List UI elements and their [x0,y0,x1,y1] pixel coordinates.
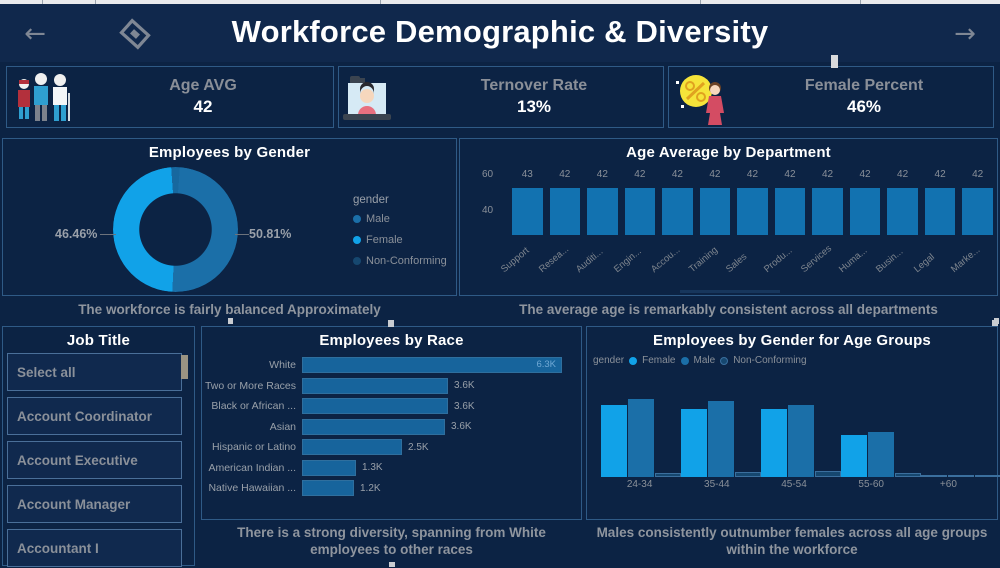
bar-female[interactable] [601,405,627,477]
panel-title: Employees by Race [202,327,581,349]
bar[interactable] [587,188,618,235]
dept-bar-group: 43Support 42Resea... 42Auditi... 42Engin… [512,163,993,273]
kpi-value: 46% [743,96,985,118]
bar-male[interactable] [948,475,974,477]
bar-value: 42 [700,169,731,180]
bar-female[interactable] [681,409,707,477]
race-bar-item[interactable]: American Indian ... 1.3K [202,458,583,479]
legend-item-non-conforming[interactable]: Non-Conforming [353,255,447,267]
panel-age-average-by-department[interactable]: Age Average by Department 60 40 43Suppor… [459,138,998,296]
race-bar-item[interactable]: Asian 3.6K [202,417,583,438]
race-bar-item[interactable]: White 6.3K [202,355,583,376]
legend-dot-icon [353,215,361,223]
bar-value: 42 [662,169,693,180]
kpi-row: Age AVG 42 Ternover Rate 13% [0,64,1000,130]
bar-non-conforming[interactable] [975,475,1000,477]
bar-category: Black or African ... [202,400,302,412]
horizontal-scrollbar[interactable] [680,290,780,293]
leader-line-left [100,234,116,235]
resize-handle-agegrp-top[interactable] [992,320,998,326]
bar[interactable]: 6.3K [302,357,562,373]
bar-value: 42 [625,169,656,180]
age-group-60-plus[interactable] [921,377,1000,477]
bar-female[interactable] [921,475,947,477]
bar[interactable] [302,480,354,496]
bar-category: Support [499,245,532,275]
slicer-item-list: Select all Account Coordinator Account E… [7,353,182,568]
agegroup-legend: gender Female Male Non-Conforming [593,355,807,366]
bar-non-conforming[interactable] [815,471,841,477]
bar[interactable] [962,188,993,235]
x-tick: 35-44 [678,479,755,490]
age-group-55-60[interactable] [841,377,921,477]
bar[interactable] [302,460,356,476]
bar[interactable] [512,188,543,235]
donut-label-female: 46.46% [55,227,97,241]
legend-dot-icon [681,357,689,365]
panel-job-title-slicer[interactable]: Job Title Select all Account Coordinator… [2,326,195,566]
legend-label: Female [366,234,403,246]
legend-dot-icon [353,257,361,265]
dept-bar-item[interactable]: 42Resea... [550,163,581,273]
dept-bar-item[interactable]: 42Training [700,163,731,273]
x-tick: 55-60 [833,479,910,490]
x-tick: 24-34 [601,479,678,490]
bar-value: 42 [962,169,993,180]
legend-dot-icon [720,357,728,365]
bar[interactable] [737,188,768,235]
bar[interactable] [925,188,956,235]
bar-category: Two or More Races [202,380,302,392]
dept-bar-item[interactable]: 43Support [512,163,543,273]
bar-category: Hispanic or Latino [202,441,302,453]
legend-label-non-conforming[interactable]: Non-Conforming [733,355,806,366]
people-group-icon [7,67,81,127]
agegroup-x-axis: 24-34 35-44 45-54 55-60 +60 [601,479,987,490]
bar-value: 1.3K [356,462,383,473]
bar-value: 42 [925,169,956,180]
bar[interactable] [302,398,448,414]
slicer-item-accountant-i[interactable]: Accountant I [7,529,182,567]
bar-value: 42 [737,169,768,180]
bar-category: American Indian ... [202,462,302,474]
bar-male[interactable] [868,432,894,477]
resize-handle-top-race[interactable] [388,320,394,327]
legend-dot-icon [629,357,637,365]
panel-employees-by-gender-age-groups[interactable]: Employees by Gender for Age Groups gende… [586,326,998,520]
caption-department: The average age is remarkably consistent… [459,301,998,318]
kpi-value: 13% [413,96,655,118]
bar[interactable] [625,188,656,235]
kpi-label: Age AVG [81,76,325,96]
legend-label: Non-Conforming [366,255,447,267]
bar-value: 3.6K [448,380,475,391]
kpi-label: Ternover Rate [413,76,655,96]
bar-value: 42 [812,169,843,180]
panel-employees-by-gender[interactable]: Employees by Gender 46.46% 50.81% gender… [2,138,457,296]
bar-value: 3.6K [445,421,472,432]
bar[interactable] [302,419,445,435]
dept-bar-item[interactable]: 42Produ... [775,163,806,273]
bar-value: 42 [775,169,806,180]
dept-bar-item[interactable]: 42Sales [737,163,768,273]
bar-non-conforming[interactable] [735,472,761,477]
kpi-card-age-avg[interactable]: Age AVG 42 [6,66,334,128]
bar[interactable] [302,378,448,394]
legend-title: gender [353,194,447,206]
legend-item-female[interactable]: Female [353,234,447,246]
y-tick-40: 40 [482,205,493,216]
gender-legend: gender Male Female Non-Conforming [353,194,447,276]
bar-non-conforming[interactable] [655,473,681,477]
legend-label-male[interactable]: Male [694,355,716,366]
race-bar-item[interactable]: Native Hawaiian ... 1.2K [202,478,583,499]
dept-bar-item[interactable]: 42Busin... [887,163,918,273]
age-group-24-34[interactable] [601,377,681,477]
age-group-45-54[interactable] [761,377,841,477]
kpi-card-turnover-rate[interactable]: Ternover Rate 13% [338,66,664,128]
leader-line-right [235,234,249,235]
bar[interactable] [700,188,731,235]
bar-category: White [202,359,302,371]
dept-bar-item[interactable]: 42Services [812,163,843,273]
caption-agegroup: Males consistently outnumber females acr… [586,524,998,558]
dept-bar-item[interactable]: 42Accou... [662,163,693,273]
x-tick: 45-54 [755,479,832,490]
dept-bar-item[interactable]: 42Huma... [850,163,881,273]
race-bar-list: White 6.3K Two or More Races 3.6K Black … [202,355,583,499]
slicer-scrollbar[interactable] [181,355,188,379]
dept-bar-item[interactable]: 42Marke... [962,163,993,273]
kpi-card-female-percent[interactable]: Female Percent 46% [668,66,994,128]
kpi-value: 42 [81,96,325,118]
bar-female[interactable] [761,409,787,477]
caption-race: There is a strong diversity, spanning fr… [201,524,582,558]
agegroup-bar-groups [601,377,987,477]
panel-title: Employees by Gender for Age Groups [587,327,997,349]
bar-female[interactable] [841,435,867,477]
dept-plot-area: 60 40 43Support 42Resea... 42Auditi... 4… [460,163,999,273]
bar[interactable] [850,188,881,235]
bar-value: 42 [887,169,918,180]
panel-title: Job Title [3,327,194,349]
bar[interactable] [302,439,402,455]
x-tick: +60 [910,479,987,490]
bar[interactable] [775,188,806,235]
dashboard-root: ← Workforce Demographic & Diversity → [0,0,1000,568]
slicer-item-select-all[interactable]: Select all [7,353,182,391]
bar-value: 43 [512,169,543,180]
slicer-item-account-executive[interactable]: Account Executive [7,441,182,479]
agegroup-plot-area: 24-34 35-44 45-54 55-60 +60 [601,377,987,495]
page-title: Workforce Demographic & Diversity [0,14,1000,50]
bar-value: 6.3K [536,359,556,370]
legend-title: gender [593,355,624,366]
kpi-label: Female Percent [743,76,985,96]
bar[interactable] [812,188,843,235]
bar-category: Native Hawaiian ... [202,482,302,494]
bar-value: 42 [850,169,881,180]
y-tick-60: 60 [482,169,493,180]
legend-dot-icon [353,236,361,244]
bar[interactable] [662,188,693,235]
dept-bar-item[interactable]: 42Engin... [625,163,656,273]
arrow-right-icon[interactable]: → [948,20,982,48]
bar-category: Asian [202,421,302,433]
slicer-item-account-coordinator[interactable]: Account Coordinator [7,397,182,435]
dept-bar-item[interactable]: 42Legal [925,163,956,273]
age-group-35-44[interactable] [681,377,761,477]
legend-label: Male [366,213,390,225]
race-bar-item[interactable]: Black or African ... 3.6K [202,396,583,417]
bar[interactable] [550,188,581,235]
panel-title: Age Average by Department [460,139,997,161]
legend-item-male[interactable]: Male [353,213,447,225]
race-bar-item[interactable]: Hispanic or Latino 2.5K [202,437,583,458]
bar-value: 42 [587,169,618,180]
caption-gender: The workforce is fairly balanced Approxi… [2,301,457,318]
donut-ring [113,167,238,292]
employee-laptop-icon [339,67,413,127]
bar-value: 3.6K [448,401,475,412]
donut-label-male: 50.81% [249,227,291,241]
bar-value: 2.5K [402,442,429,453]
panel-employees-by-race[interactable]: Employees by Race White 6.3K Two or More… [201,326,582,520]
dashboard-header: ← Workforce Demographic & Diversity → [0,4,1000,62]
bar-non-conforming[interactable] [895,473,921,477]
gender-donut-chart[interactable] [113,167,238,292]
panel-title: Employees by Gender [3,139,456,161]
bar-value: 1.2K [354,483,381,494]
legend-label-female[interactable]: Female [642,355,675,366]
resize-handle-gender-cap[interactable] [228,318,233,324]
bar-value: 42 [550,169,581,180]
race-bar-item[interactable]: Two or More Races 3.6K [202,376,583,397]
slicer-item-account-manager[interactable]: Account Manager [7,485,182,523]
bar-male[interactable] [788,405,814,477]
resize-handle-race-bottom[interactable] [389,562,395,567]
bar-male[interactable] [708,401,734,477]
card-drag-handle[interactable] [831,55,838,68]
bar-male[interactable] [628,399,654,477]
percent-woman-icon [669,67,743,127]
dept-bar-item[interactable]: 42Auditi... [587,163,618,273]
bar[interactable] [887,188,918,235]
